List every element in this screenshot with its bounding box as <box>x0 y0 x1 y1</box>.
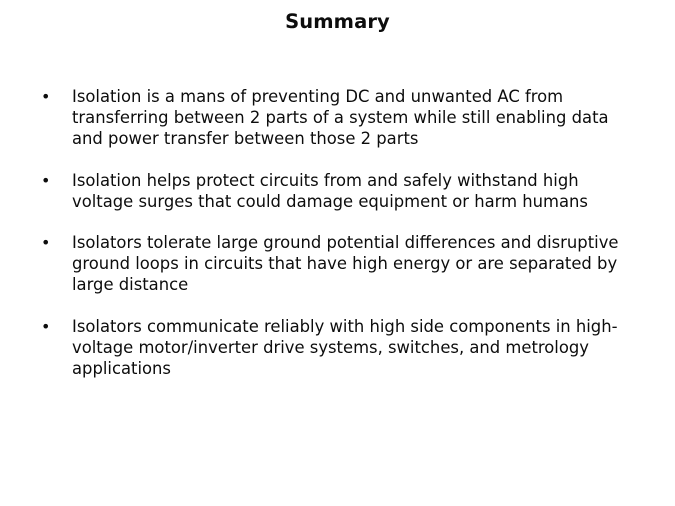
bullet-list: • Isolation is a mans of preventing DC a… <box>38 86 638 379</box>
list-item-text: Isolation helps protect circuits from an… <box>72 170 638 212</box>
bullet-point-icon: • <box>41 232 55 253</box>
list-item-text: Isolators communicate reliably with high… <box>72 316 638 380</box>
bullet-point-icon: • <box>41 316 55 337</box>
bullet-point-icon: • <box>41 170 55 191</box>
list-item-text: Isolation is a mans of preventing DC and… <box>72 86 638 150</box>
list-item: • Isolators tolerate large ground potent… <box>38 232 638 296</box>
bullet-point-icon: • <box>41 86 55 107</box>
list-item-text: Isolators tolerate large ground potentia… <box>72 232 638 296</box>
page-title: Summary <box>0 10 675 34</box>
list-item: • Isolation is a mans of preventing DC a… <box>38 86 638 150</box>
list-item: • Isolation helps protect circuits from … <box>38 170 638 212</box>
list-item: • Isolators communicate reliably with hi… <box>38 316 638 380</box>
slide-canvas: Summary • Isolation is a mans of prevent… <box>0 0 675 506</box>
